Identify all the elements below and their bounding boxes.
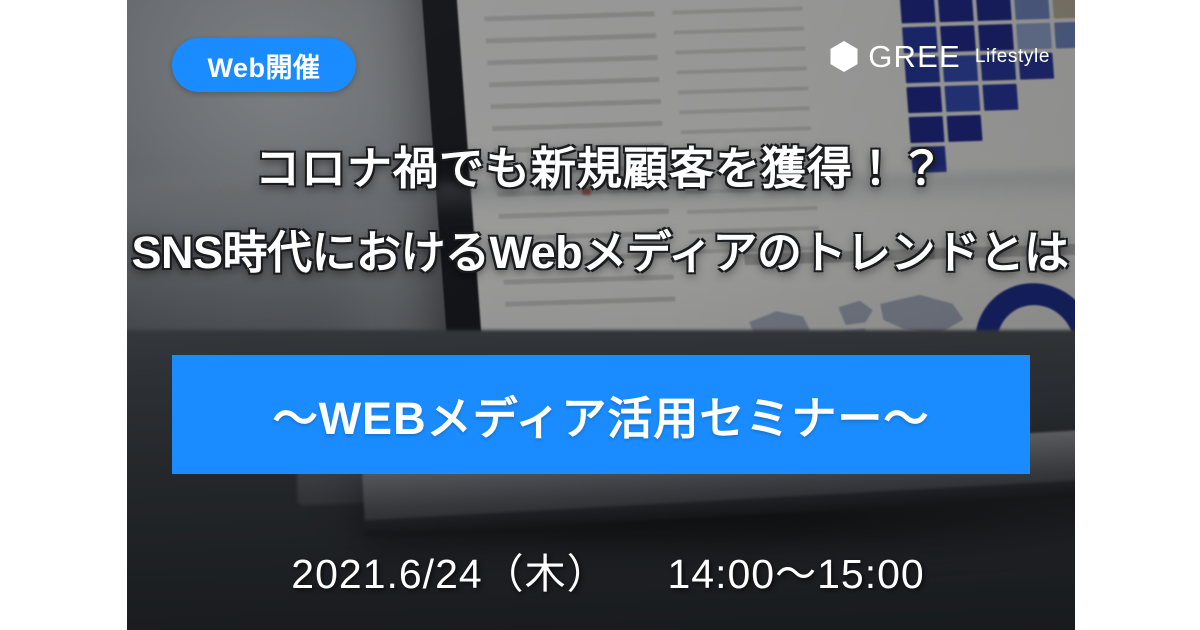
headline-line-1: コロナ禍でも新規顧客を獲得！？	[0, 140, 1200, 198]
brand-name: GREE	[868, 41, 961, 72]
letterbox-right	[1075, 0, 1200, 630]
page-title: コロナ禍でも新規顧客を獲得！？ SNS時代におけるWebメディアのトレンドとは	[0, 140, 1200, 281]
event-date: 2021.6/24（木）	[291, 551, 608, 597]
headline-line-2: SNS時代におけるWebメディアのトレンドとは	[0, 224, 1200, 282]
banner-content: Web開催 GREE Lifestyle コロナ禍でも新規顧客を獲得！？ SNS…	[0, 0, 1200, 630]
seminar-subtitle-bar: 〜WEBメディア活用セミナー〜	[172, 355, 1030, 474]
web-event-badge-label: Web開催	[207, 46, 320, 85]
banner-canvas: Web開催 GREE Lifestyle コロナ禍でも新規顧客を獲得！？ SNS…	[0, 0, 1200, 630]
event-datetime: 2021.6/24（木） 14:00〜15:00	[0, 540, 1200, 600]
web-event-badge: Web開催	[172, 38, 356, 92]
brand-sub-name: Lifestyle	[975, 47, 1050, 66]
brand-logo: GREE Lifestyle	[829, 40, 1050, 73]
event-time: 14:00〜15:00	[668, 551, 925, 597]
letterbox-left	[0, 0, 127, 630]
seminar-subtitle-text: 〜WEBメディア活用セミナー〜	[273, 382, 930, 447]
hexagon-icon	[829, 40, 859, 73]
